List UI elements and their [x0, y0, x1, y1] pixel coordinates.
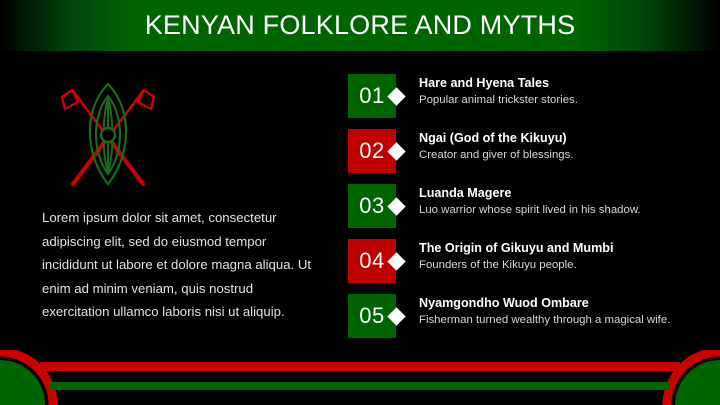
list-item-description: Creator and giver of blessings.	[419, 147, 574, 164]
list-item-number-badge: 04	[348, 239, 396, 283]
list-item-description: Popular animal trickster stories.	[419, 92, 578, 109]
slide-canvas: KENYAN FOLKLORE AND MYTHS	[0, 0, 720, 405]
list-item-number: 05	[359, 303, 384, 329]
list-item-number: 02	[359, 138, 384, 164]
page-title: KENYAN FOLKLORE AND MYTHS	[0, 0, 720, 51]
list-item[interactable]: 04The Origin of Gikuyu and MumbiFounders…	[348, 239, 688, 287]
myth-list: 01Hare and Hyena TalesPopular animal tri…	[348, 74, 688, 349]
list-item[interactable]: 02Ngai (God of the Kikuyu)Creator and gi…	[348, 129, 688, 177]
list-item-title: Luanda Magere	[419, 185, 641, 202]
list-item-description: Founders of the Kikuyu people.	[419, 257, 614, 274]
list-item-text: The Origin of Gikuyu and MumbiFounders o…	[419, 239, 614, 274]
list-item-text: Hare and Hyena TalesPopular animal trick…	[419, 74, 578, 109]
list-item-description: Luo warrior whose spirit lived in his sh…	[419, 202, 641, 219]
diamond-marker-icon	[387, 87, 405, 105]
list-item-number-badge: 02	[348, 129, 396, 173]
list-item-text: Ngai (God of the Kikuyu)Creator and give…	[419, 129, 574, 164]
list-item-number: 03	[359, 193, 384, 219]
list-item-title: Nyamgondho Wuod Ombare	[419, 295, 670, 312]
red-bar	[40, 362, 680, 371]
list-item-title: The Origin of Gikuyu and Mumbi	[419, 240, 614, 257]
bottom-decoration	[0, 350, 720, 405]
list-item-description: Fisherman turned wealthy through a magic…	[419, 312, 670, 329]
list-item-number: 01	[359, 83, 384, 109]
diamond-marker-icon	[387, 307, 405, 325]
list-item-text: Nyamgondho Wuod OmbareFisherman turned w…	[419, 294, 670, 329]
list-item[interactable]: 05Nyamgondho Wuod OmbareFisherman turned…	[348, 294, 688, 342]
list-item-number-badge: 05	[348, 294, 396, 338]
list-item-number-badge: 03	[348, 184, 396, 228]
list-item-title: Hare and Hyena Tales	[419, 75, 578, 92]
body-paragraph: Lorem ipsum dolor sit amet, consectetur …	[42, 206, 314, 324]
list-item-text: Luanda MagereLuo warrior whose spirit li…	[419, 184, 641, 219]
list-item[interactable]: 03Luanda MagereLuo warrior whose spirit …	[348, 184, 688, 232]
list-item-number: 04	[359, 248, 384, 274]
diamond-marker-icon	[387, 197, 405, 215]
left-content-column: Lorem ipsum dolor sit amet, consectetur …	[42, 72, 322, 324]
list-item-number-badge: 01	[348, 74, 396, 118]
diamond-marker-icon	[387, 252, 405, 270]
diamond-marker-icon	[387, 142, 405, 160]
green-bar	[50, 382, 670, 390]
list-item[interactable]: 01Hare and Hyena TalesPopular animal tri…	[348, 74, 688, 122]
list-item-title: Ngai (God of the Kikuyu)	[419, 130, 574, 147]
maasai-shield-and-crossed-spears-icon	[48, 72, 168, 190]
